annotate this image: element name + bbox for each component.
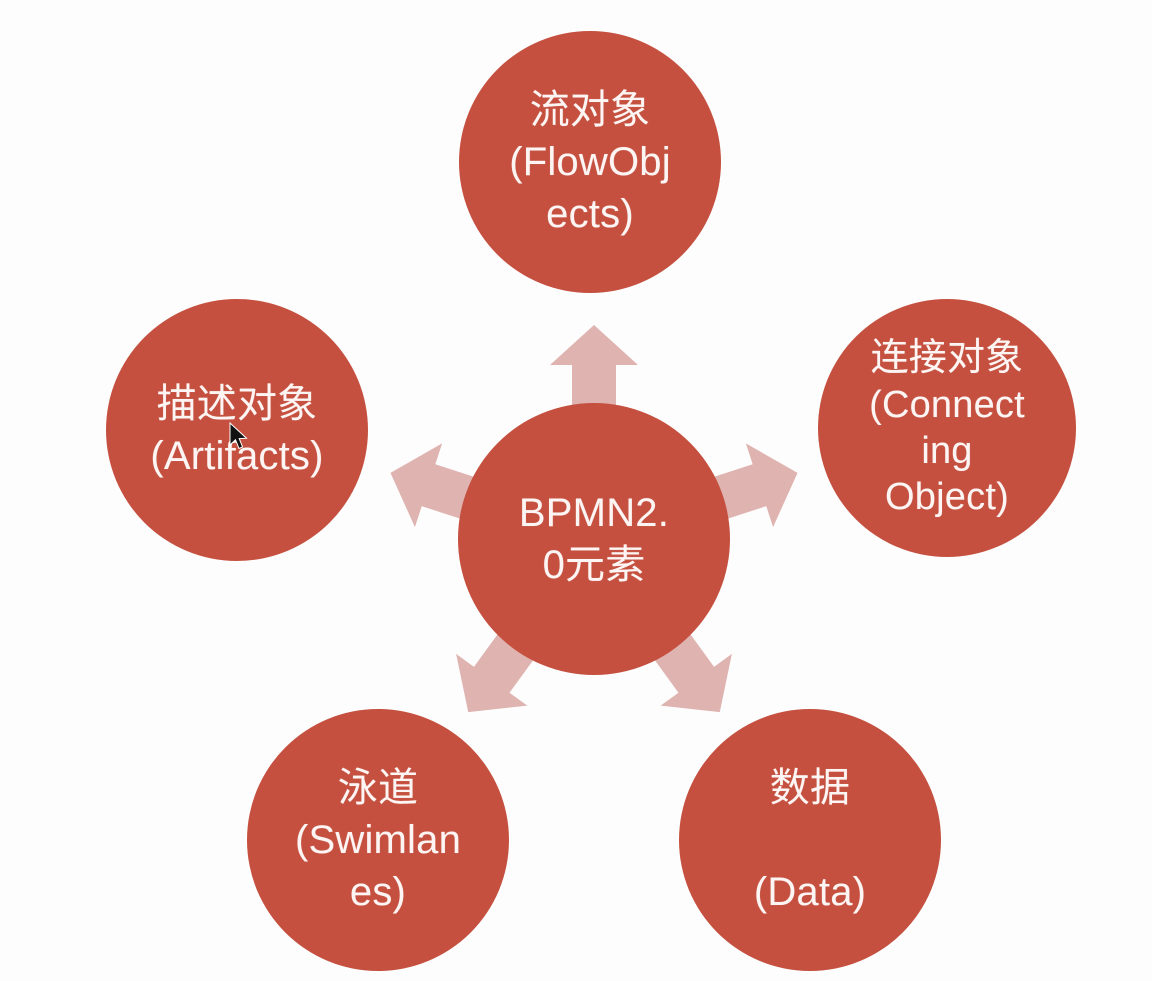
node-connecting-object[interactable]: 连接对象 (Connect ing Object) <box>818 299 1076 557</box>
node-swimlanes-label: 泳道 (Swimlan es) <box>289 762 467 918</box>
node-bpmn-center[interactable]: BPMN2. 0元素 <box>458 403 730 675</box>
diagram-canvas: 流对象 (FlowObj ects) 连接对象 (Connect ing Obj… <box>0 0 1152 981</box>
node-data-label: 数据 (Data) <box>748 762 872 918</box>
node-flow-objects-label: 流对象 (FlowObj ects) <box>503 84 677 240</box>
node-swimlanes[interactable]: 泳道 (Swimlan es) <box>247 709 509 971</box>
node-connecting-object-label: 连接对象 (Connect ing Object) <box>863 335 1031 520</box>
node-bpmn-center-label: BPMN2. 0元素 <box>513 487 675 591</box>
mouse-pointer-icon <box>228 422 250 452</box>
node-flow-objects[interactable]: 流对象 (FlowObj ects) <box>459 31 721 293</box>
node-data[interactable]: 数据 (Data) <box>679 709 941 971</box>
